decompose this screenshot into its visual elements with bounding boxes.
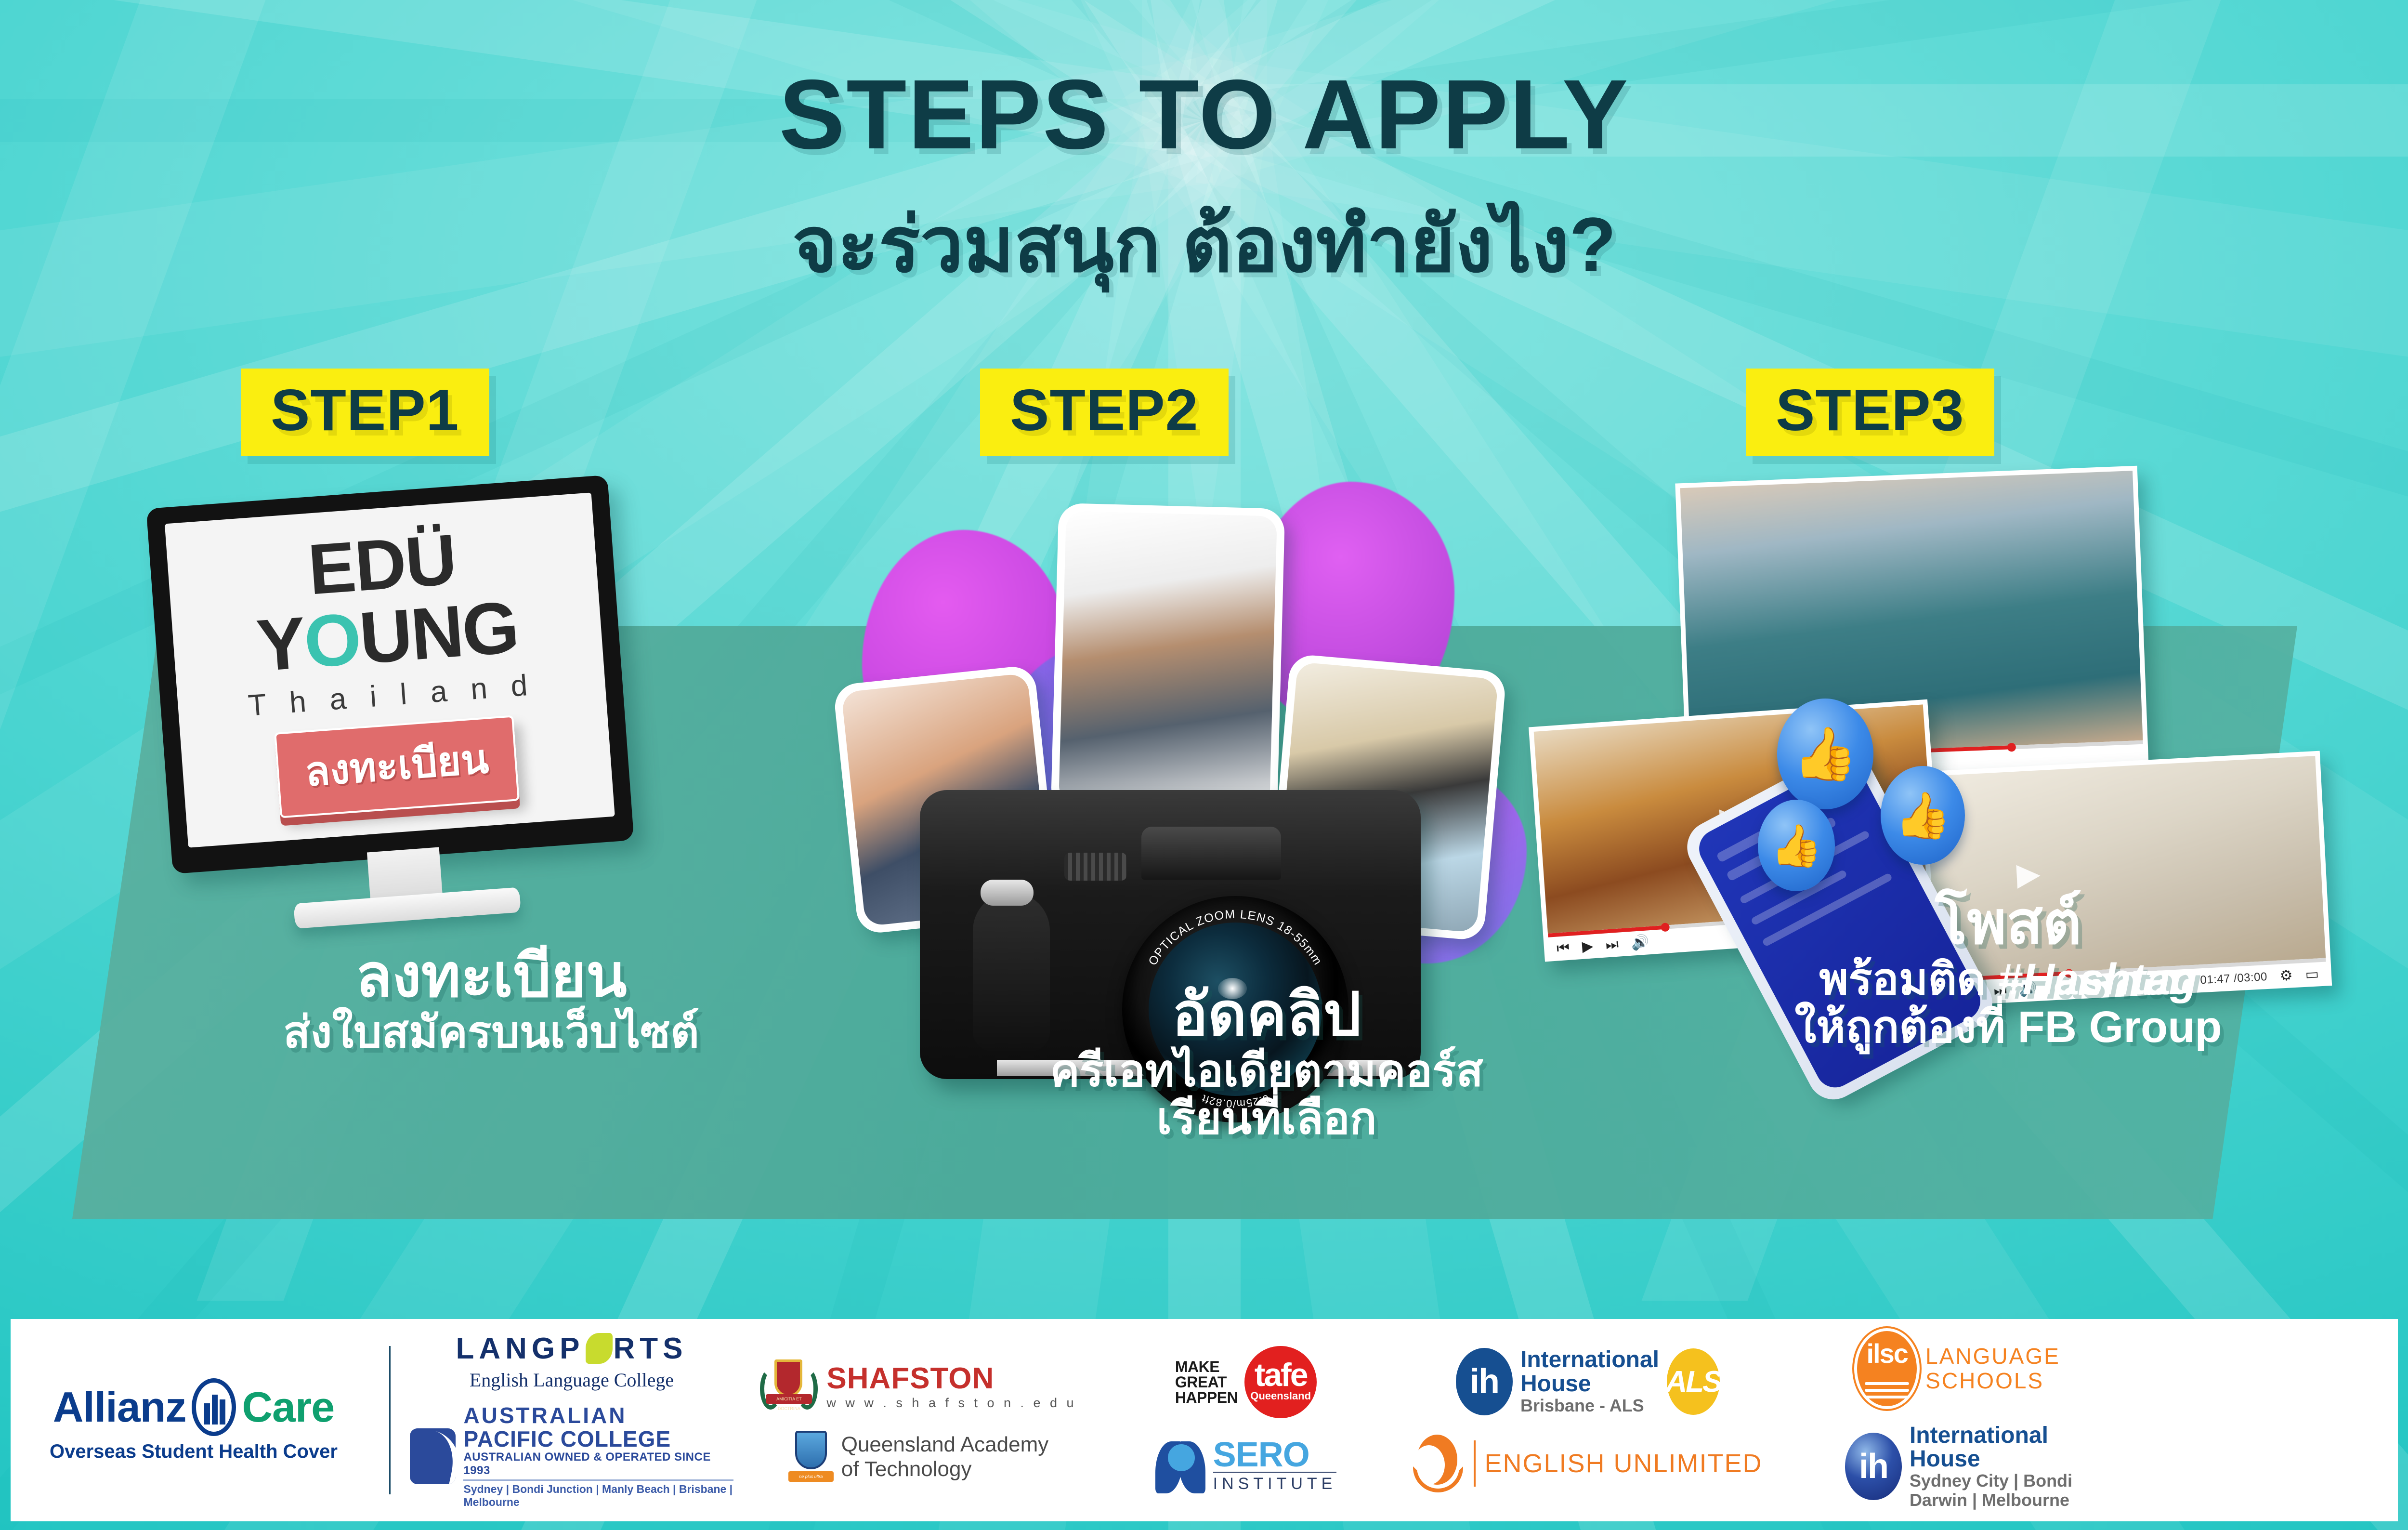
logo-international-house-brisbane: ih International House Brisbane - ALS AL…: [1456, 1348, 1720, 1415]
volume-icon[interactable]: 🔊: [1631, 935, 1649, 951]
sero-sub: INSTITUTE: [1213, 1472, 1337, 1493]
langports-wordmark: LANGP RTS: [456, 1332, 688, 1366]
logo-divider: [389, 1346, 391, 1494]
english-unlimited-mark-icon: [1413, 1435, 1465, 1492]
ilsc-line1: LANGUAGE: [1925, 1344, 2060, 1369]
logo-queensland-academy-of-technology: ne plus ultra Queensland Academy of Tech…: [788, 1431, 1049, 1483]
logo-allianz-care: Allianz Care Overseas Student Health Cov…: [11, 1319, 377, 1521]
step-badge-1: STEP1: [241, 369, 489, 456]
camera-prism: [1141, 827, 1281, 880]
tafe-circle-mark: tafe Queensland: [1244, 1346, 1317, 1418]
step-badge-3: STEP3: [1746, 369, 1994, 456]
logo-tafe-queensland: MAKE GREAT HAPPEN tafe Queensland: [1175, 1346, 1317, 1418]
svg-text:OPTICAL ZOOM LENS 18-55mm: OPTICAL ZOOM LENS 18-55mm: [1146, 908, 1324, 968]
step-1-caption: ลงทะเบียน ส่งใบสมัครบนเว็บไซต์: [159, 944, 824, 1056]
tafe-state: Queensland: [1250, 1390, 1311, 1402]
logo-tafe-sero-group: MAKE GREAT HAPPEN tafe Queensland SERO I…: [1097, 1319, 1395, 1521]
step-3-caption-main: โพสต์: [1652, 891, 2365, 956]
shafston-wordmark: SHAFSTON: [826, 1361, 1076, 1396]
step-badge-2: STEP2: [980, 369, 1229, 456]
like-thumb-icon: 👍: [1758, 800, 1835, 891]
ih-oval-icon: ih: [1456, 1348, 1513, 1415]
english-unlimited-wordmark: ENGLISH UNLIMITED: [1484, 1449, 1762, 1478]
step-2-caption-line2: ครีเอทไอเดียตามคอร์ส: [905, 1047, 1628, 1095]
ih-sydney-line4: Darwin | Melbourne: [1910, 1490, 2072, 1510]
apc-line2: PACIFIC COLLEGE: [463, 1427, 733, 1451]
play-overlay-icon[interactable]: ▶: [2015, 856, 2041, 893]
next-icon[interactable]: ⏭: [1605, 937, 1619, 953]
like-thumb-icon: 👍: [1777, 699, 1873, 809]
logo-australian-pacific-college: AUSTRALIAN PACIFIC COLLEGE AUSTRALIAN OW…: [410, 1404, 733, 1509]
hashtag-text: #Hashtag: [1998, 955, 2197, 1004]
qat-line1: Queensland Academy: [841, 1432, 1049, 1457]
ilsc-wordmark: ilsc: [1866, 1338, 1907, 1369]
ih-oval-icon: ih: [1845, 1433, 1902, 1500]
shafston-crest-icon: AMICITIA ET DOCTRINA: [760, 1358, 818, 1414]
logo-international-house-sydney: ih International House Sydney City | Bon…: [1845, 1424, 2072, 1510]
infographic-canvas: STEPS TO APPLY จะร่วมสนุก ต้องทำยังไง? S…: [0, 0, 2408, 1530]
langports-star-icon: [586, 1333, 613, 1364]
ilsc-sun-icon: ilsc: [1857, 1331, 1917, 1406]
als-oval-icon: ALS: [1667, 1348, 1720, 1415]
allianz-lockup: Allianz Care: [53, 1378, 334, 1436]
eu-divider: [1474, 1440, 1476, 1487]
allianz-care-word: Care: [242, 1383, 334, 1432]
allianz-bars-icon: [192, 1378, 236, 1436]
logo-shafston: AMICITIA ET DOCTRINA SHAFSTON w w w . s …: [760, 1358, 1076, 1414]
step-3-caption-line2: พร้อมติด #Hashtag: [1652, 956, 2365, 1003]
page-subtitle: จะร่วมสนุก ต้องทำยังไง?: [0, 183, 2408, 305]
shafston-url: w w w . s h a f s t o n . e d u: [826, 1396, 1076, 1411]
play-icon[interactable]: ▶: [1582, 939, 1594, 954]
tafe-tagline: MAKE GREAT HAPPEN: [1175, 1359, 1238, 1405]
sero-wordmark: SERO: [1213, 1438, 1337, 1471]
shafston-motto: AMICITIA ET DOCTRINA: [766, 1394, 812, 1404]
ilsc-line2: SCHOOLS: [1925, 1369, 2060, 1393]
logo-langports: LANGP RTS English Language College: [456, 1332, 688, 1391]
partner-logo-bar: Allianz Care Overseas Student Health Cov…: [11, 1319, 2398, 1521]
qat-crest-icon: ne plus ultra: [788, 1431, 834, 1483]
logo-ih-brisbane-eu-group: ih International House Brisbane - ALS AL…: [1395, 1319, 1780, 1521]
logo-sero-institute: SERO INSTITUTE: [1155, 1438, 1337, 1494]
step-2-caption-line3: เรียนที่เลือก: [905, 1095, 1628, 1143]
register-button[interactable]: ลงทะเบียน: [274, 715, 519, 818]
apc-line1: AUSTRALIAN: [463, 1404, 733, 1427]
allianz-wordmark: Allianz: [53, 1383, 186, 1432]
ih-brisbane-line3: Brisbane - ALS: [1520, 1396, 1659, 1415]
camera-shutter-button[interactable]: [981, 880, 1034, 906]
step-2-caption-main: อัดคลิป: [905, 983, 1628, 1047]
apc-line3: AUSTRALIAN OWNED & OPERATED SINCE 1993: [463, 1451, 733, 1477]
prev-icon[interactable]: ⏮: [1556, 941, 1570, 956]
qat-line2: of Technology: [841, 1457, 1049, 1481]
sero-mark-icon: [1155, 1438, 1205, 1494]
logo-shafston-qat-group: AMICITIA ET DOCTRINA SHAFSTON w w w . s …: [740, 1319, 1097, 1521]
step-3-caption-line3: ให้ถูกต้องที่ FB Group: [1652, 1003, 2365, 1051]
desktop-monitor: EDÜ YOUNG T h a i l a n d ลงทะเบียน: [146, 475, 634, 874]
apc-campuses: Sydney | Bondi Junction | Manly Beach | …: [463, 1479, 733, 1509]
apc-mark-icon: [410, 1428, 456, 1484]
ih-brisbane-line2: House: [1520, 1372, 1659, 1396]
monitor-screen: EDÜ YOUNG T h a i l a n d ลงทะเบียน: [165, 492, 615, 847]
step-1-caption-main: ลงทะเบียน: [159, 944, 824, 1009]
eduyoung-logo-line2: YOUNG: [254, 592, 520, 681]
step-1-caption-line2: ส่งใบสมัครบนเว็บไซต์: [159, 1009, 824, 1056]
ih-brisbane-line1: International: [1520, 1348, 1659, 1372]
langports-tagline: English Language College: [470, 1369, 674, 1391]
ih-sydney-line1: International: [1910, 1424, 2072, 1448]
step-2-caption: อัดคลิป ครีเอทไอเดียตามคอร์ส เรียนที่เลื…: [905, 983, 1628, 1143]
ih-sydney-line3: Sydney City | Bondi: [1910, 1471, 2072, 1490]
logo-ilsc-ih-sydney-group: ilsc LANGUAGE SCHOOLS ih International H…: [1780, 1319, 2137, 1521]
allianz-tagline: Overseas Student Health Cover: [50, 1441, 338, 1463]
qat-motto: ne plus ultra: [788, 1471, 834, 1482]
logo-english-unlimited: ENGLISH UNLIMITED: [1413, 1435, 1762, 1492]
tafe-wordmark: tafe: [1255, 1362, 1307, 1388]
logo-langports-apc-group: LANGP RTS English Language College AUSTR…: [403, 1319, 740, 1521]
logo-ilsc-language-schools: ilsc LANGUAGE SCHOOLS: [1857, 1331, 2060, 1406]
page-title: STEPS TO APPLY: [0, 58, 2408, 171]
step-3-caption: โพสต์ พร้อมติด #Hashtag ให้ถูกต้องที่ FB…: [1652, 891, 2365, 1052]
ih-sydney-line2: House: [1910, 1447, 2072, 1471]
camera-mode-dial[interactable]: [1064, 853, 1127, 881]
like-thumb-icon: 👍: [1881, 766, 1965, 865]
